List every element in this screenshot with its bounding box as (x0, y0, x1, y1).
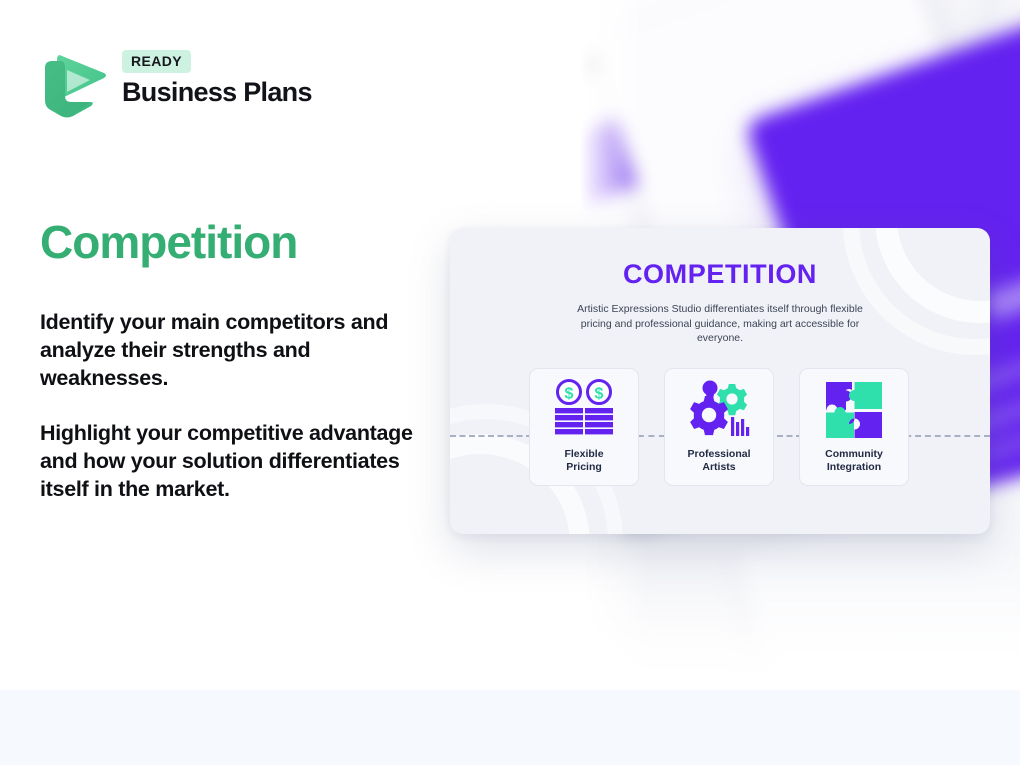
svg-text:$: $ (595, 386, 604, 403)
feature-tile-group: $ $ (529, 368, 909, 486)
background-bottom-fade (580, 540, 1020, 690)
page-title: Competition (40, 215, 297, 269)
svg-text:$: $ (565, 386, 574, 403)
play-arrow-logo-icon (40, 40, 106, 118)
slide-subtitle: Artistic Expressions Studio differentiat… (570, 302, 870, 346)
slide-preview-page: READY Business Plans Competition Identif… (0, 0, 1020, 765)
tile-label-line1: Flexible (564, 448, 603, 460)
slide-card[interactable]: COMPETITION Artistic Expressions Studio … (450, 228, 990, 534)
tile-label-line2: Integration (827, 461, 881, 473)
body-paragraph-2: Highlight your competitive advantage and… (40, 419, 440, 503)
tile-label-line1: Community (825, 448, 883, 460)
feature-tile-label: Flexible Pricing (564, 448, 603, 474)
slide-title: COMPETITION (450, 259, 990, 290)
feature-tile-flexible-pricing[interactable]: $ $ (529, 368, 639, 486)
connector-dashed-line (450, 435, 532, 437)
coin-stacks-dollar-icon: $ $ (548, 379, 620, 441)
brand-wordmark: READY Business Plans (122, 50, 312, 108)
brand-logo[interactable]: READY Business Plans (40, 40, 312, 118)
ready-badge: READY (122, 50, 191, 73)
puzzle-pieces-icon (818, 379, 890, 441)
brand-name: Business Plans (122, 77, 312, 108)
tile-label-line2: Artists (702, 461, 735, 473)
body-paragraph-1: Identify your main competitors and analy… (40, 308, 440, 392)
feature-tile-label: Professional Artists (687, 448, 750, 474)
feature-tile-community-integration[interactable]: Community Integration (799, 368, 909, 486)
tile-label-line1: Professional (687, 448, 750, 460)
bottom-accent-band (0, 690, 1020, 765)
feature-tile-professional-artists[interactable]: Professional Artists (664, 368, 774, 486)
tile-label-line2: Pricing (566, 461, 602, 473)
feature-tile-label: Community Integration (825, 448, 883, 474)
gears-lightbulb-chart-icon (683, 379, 755, 441)
